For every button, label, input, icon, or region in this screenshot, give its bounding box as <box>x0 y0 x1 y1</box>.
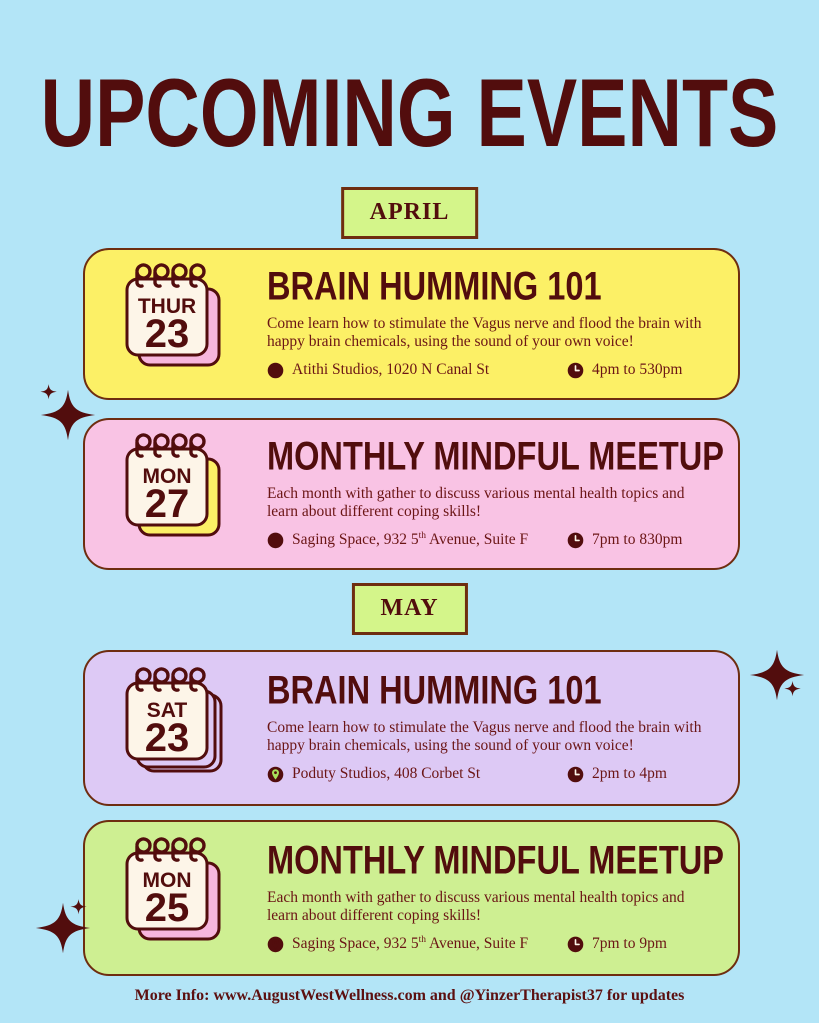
event-time: 7pm to 830pm <box>567 531 682 549</box>
event-card[interactable]: MON 27 MONTHLY MINDFUL MEETUP Each month… <box>83 418 740 570</box>
svg-text:25: 25 <box>145 886 190 930</box>
event-time: 4pm to 530pm <box>567 361 682 379</box>
time-text: 7pm to 9pm <box>592 935 667 953</box>
location-text: Atithi Studios, 1020 N Canal St <box>292 361 489 379</box>
location-pin-icon <box>267 532 292 549</box>
month-badge-may: MAY <box>351 583 467 635</box>
event-title: BRAIN HUMMING 101 <box>267 266 690 307</box>
calendar-icon: THUR 23 <box>117 265 235 383</box>
svg-text:27: 27 <box>145 482 190 526</box>
sparkle-icon <box>744 645 810 707</box>
calendar-icon: SAT 23 <box>117 669 235 787</box>
time-text: 4pm to 530pm <box>592 361 682 379</box>
event-title: MONTHLY MINDFUL MEETUP <box>267 840 690 881</box>
clock-icon <box>567 362 592 379</box>
clock-icon <box>567 532 592 549</box>
event-time: 2pm to 4pm <box>567 765 667 783</box>
event-title: BRAIN HUMMING 101 <box>267 670 690 711</box>
location-text: Saging Space, 932 5th Avenue, Suite F <box>292 531 528 549</box>
address-ordinal-suffix: th <box>419 531 426 541</box>
event-details: MONTHLY MINDFUL MEETUP Each month with g… <box>267 439 722 549</box>
location-pin-icon <box>267 766 292 783</box>
sparkle-icon <box>35 385 101 447</box>
clock-icon <box>567 766 592 783</box>
event-description: Come learn how to stimulate the Vagus ne… <box>267 719 719 754</box>
svg-text:23: 23 <box>145 312 190 356</box>
event-description: Come learn how to stimulate the Vagus ne… <box>267 315 719 350</box>
event-description: Each month with gather to discuss variou… <box>267 889 719 924</box>
clock-icon <box>567 936 592 953</box>
location-text: Poduty Studios, 408 Corbet St <box>292 765 480 783</box>
event-meta: Saging Space, 932 5th Avenue, Suite F 7p… <box>267 531 722 549</box>
event-details: BRAIN HUMMING 101 Come learn how to stim… <box>267 269 722 379</box>
location-pin-icon <box>267 362 292 379</box>
event-details: MONTHLY MINDFUL MEETUP Each month with g… <box>267 843 722 953</box>
month-badge-april: APRIL <box>341 187 479 239</box>
event-meta: Atithi Studios, 1020 N Canal St 4pm to 5… <box>267 361 722 379</box>
event-location: Saging Space, 932 5th Avenue, Suite F <box>267 935 567 953</box>
event-time: 7pm to 9pm <box>567 935 667 953</box>
calendar-icon: MON 27 <box>117 435 235 553</box>
footer-info: More Info: www.AugustWestWellness.com an… <box>0 987 819 1005</box>
event-meta: Poduty Studios, 408 Corbet St 2pm to 4pm <box>267 765 722 783</box>
event-card[interactable]: THUR 23 BRAIN HUMMING 101 Come learn how… <box>83 248 740 400</box>
event-card[interactable]: MON 25 MONTHLY MINDFUL MEETUP Each month… <box>83 820 740 976</box>
event-details: BRAIN HUMMING 101 Come learn how to stim… <box>267 673 722 783</box>
time-text: 2pm to 4pm <box>592 765 667 783</box>
event-title: MONTHLY MINDFUL MEETUP <box>267 436 690 477</box>
location-text: Saging Space, 932 5th Avenue, Suite F <box>292 935 528 953</box>
address-ordinal-suffix: th <box>419 935 426 945</box>
calendar-icon: MON 25 <box>117 839 235 957</box>
event-location: Atithi Studios, 1020 N Canal St <box>267 361 567 379</box>
event-card[interactable]: SAT 23 BRAIN HUMMING 101 Come learn how … <box>83 650 740 806</box>
page-title: UPCOMING EVENTS <box>33 66 786 163</box>
event-location: Poduty Studios, 408 Corbet St <box>267 765 567 783</box>
sparkle-icon <box>30 898 96 960</box>
event-location: Saging Space, 932 5th Avenue, Suite F <box>267 531 567 549</box>
svg-text:23: 23 <box>145 716 190 760</box>
event-description: Each month with gather to discuss variou… <box>267 485 719 520</box>
time-text: 7pm to 830pm <box>592 531 682 549</box>
location-pin-icon <box>267 936 292 953</box>
event-meta: Saging Space, 932 5th Avenue, Suite F 7p… <box>267 935 722 953</box>
